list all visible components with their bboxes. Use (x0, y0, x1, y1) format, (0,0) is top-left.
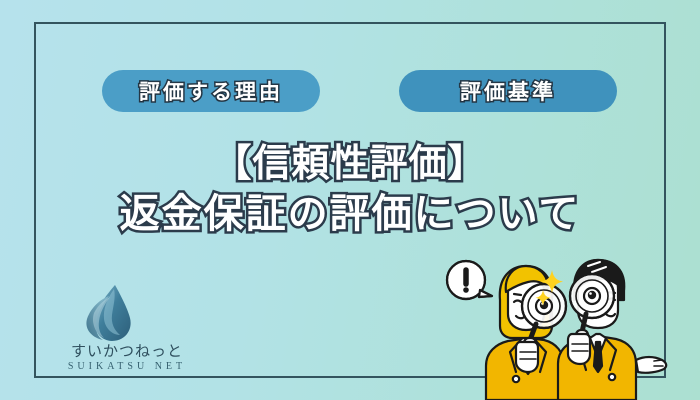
site-logo[interactable]: すいかつねっと SUIKATSU NET (57, 283, 197, 373)
badge-criteria[interactable]: 評価基準 (399, 70, 617, 112)
logo-jp-name: すいかつねっと (57, 343, 197, 360)
title-line-1: 【信頼性評価】 (0, 140, 700, 188)
water-drop-icon (81, 283, 139, 343)
page-title: 【信頼性評価】 返金保証の評価について (0, 140, 700, 240)
badge-row: 評価する理由 評価基準 (0, 70, 700, 114)
badge-reason-label: 評価する理由 (139, 76, 283, 106)
badge-criteria-label: 評価基準 (460, 76, 556, 106)
two-detectives-illustration (440, 248, 670, 400)
logo-en-name: SUIKATSU NET (57, 360, 197, 373)
banner-container: 評価する理由 評価基準 【信頼性評価】 返金保証の評価について (0, 0, 700, 400)
badge-reason[interactable]: 評価する理由 (102, 70, 320, 112)
logo-text-block: すいかつねっと SUIKATSU NET (57, 343, 197, 373)
title-line-2: 返金保証の評価について (0, 188, 700, 240)
